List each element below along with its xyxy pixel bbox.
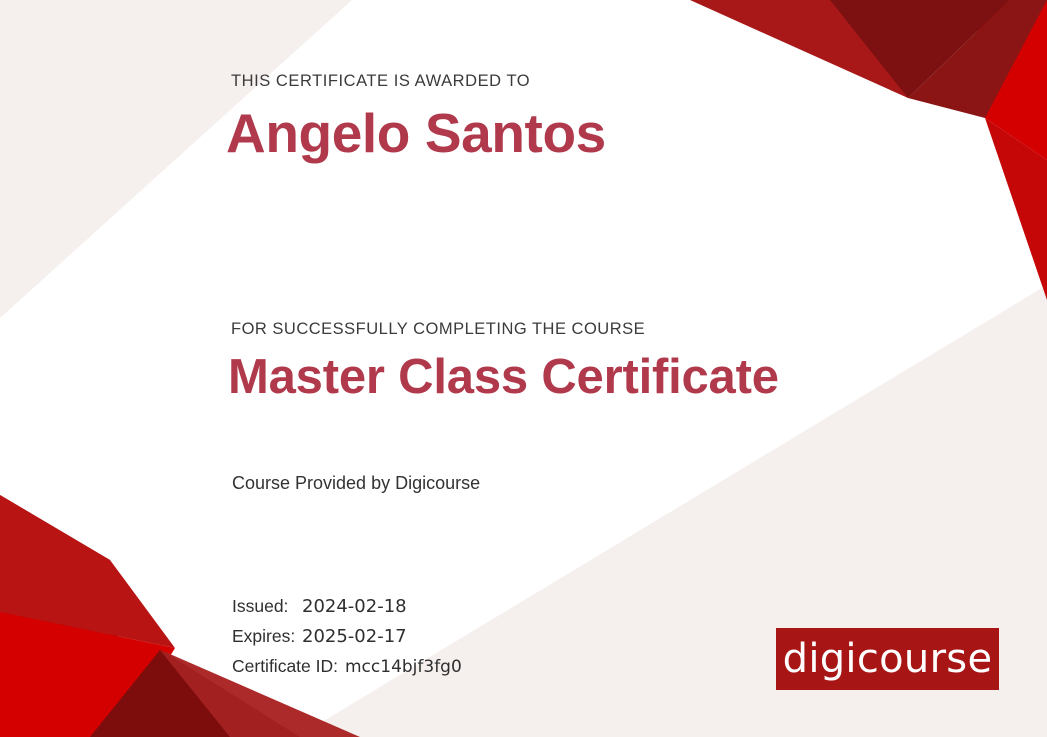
course-completion-label: FOR SUCCESSFULLY COMPLETING THE COURSE [231,320,645,339]
issued-label: Issued: [232,596,294,617]
digicourse-logo-text: digicourse [783,639,993,679]
certificate-id-label: Certificate ID: [232,656,338,677]
certificate-metadata: Issued: 2024-02-18 Expires: 2025-02-17 C… [232,596,462,686]
expires-value: 2025-02-17 [302,626,407,647]
course-title: Master Class Certificate [228,350,779,405]
certificate-canvas: THIS CERTIFICATE IS AWARDED TO Angelo Sa… [0,0,1047,737]
certificate-id-row: Certificate ID: mcc14bjf3fg0 [232,656,462,677]
course-provider-line: Course Provided by Digicourse [232,473,480,494]
expires-label: Expires: [232,626,294,647]
certificate-id-value: mcc14bjf3fg0 [345,657,462,677]
recipient-name: Angelo Santos [226,103,606,164]
awarded-to-label: THIS CERTIFICATE IS AWARDED TO [231,72,530,91]
issued-row: Issued: 2024-02-18 [232,596,462,617]
issued-value: 2024-02-18 [302,596,407,617]
digicourse-logo: digicourse [776,628,999,690]
expires-row: Expires: 2025-02-17 [232,626,462,647]
